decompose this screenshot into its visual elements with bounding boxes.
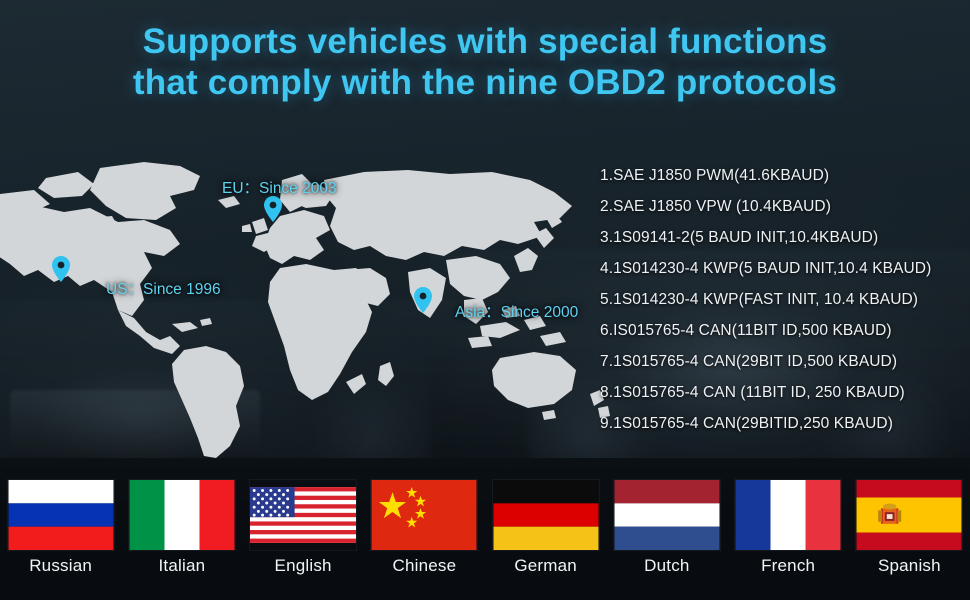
flag-italy-icon	[129, 480, 235, 550]
language-label-english: English	[243, 556, 364, 576]
title-line-1: Supports vehicles with special functions	[0, 22, 970, 63]
language-label-dutch: Dutch	[606, 556, 727, 576]
protocol-item-9: 9.1S015765-4 CAN(29BITID,250 KBAUD)	[600, 408, 960, 439]
flag-spain-icon	[856, 480, 962, 550]
map-label-us: US：Since 1996	[106, 277, 221, 299]
map-pin-eu[interactable]	[264, 196, 282, 222]
language-label-italian: Italian	[121, 556, 242, 576]
language-item-dutch[interactable]: Dutch	[606, 458, 727, 600]
title-line-2: that comply with the nine OBD2 protocols	[0, 63, 970, 104]
language-item-french[interactable]: French	[728, 458, 849, 600]
map-label-eu: EU：Since 2003	[222, 176, 337, 198]
flag-netherlands-icon	[614, 480, 720, 550]
poster-canvas: Supports vehicles with special functions…	[0, 0, 970, 600]
language-strip: Russian Italian	[0, 458, 970, 600]
protocol-item-3: 3.1S09141-2(5 BAUD INIT,10.4KBAUD)	[600, 222, 960, 253]
page-title: Supports vehicles with special functions…	[0, 22, 970, 103]
language-label-chinese: Chinese	[364, 556, 485, 576]
language-label-french: French	[728, 556, 849, 576]
language-item-english[interactable]: English	[243, 458, 364, 600]
map-pin-us[interactable]	[52, 256, 70, 282]
language-label-german: German	[485, 556, 606, 576]
world-map: EU：Since 2003 US：Since 1996 Asia：Since 2…	[0, 160, 614, 460]
language-item-german[interactable]: German	[485, 458, 606, 600]
language-label-spanish: Spanish	[849, 556, 970, 576]
map-pin-asia[interactable]	[414, 287, 432, 313]
flag-france-icon	[735, 480, 841, 550]
flag-usa-icon	[250, 480, 356, 550]
protocol-item-1: 1.SAE J1850 PWM(41.6KBAUD)	[600, 160, 960, 191]
protocol-item-7: 7.1S015765-4 CAN(29BIT ID,500 KBAUD)	[600, 346, 960, 377]
protocol-item-2: 2.SAE J1850 VPW (10.4KBAUD)	[600, 191, 960, 222]
flag-germany-icon	[493, 480, 599, 550]
protocol-item-5: 5.1S014230-4 KWP(FAST INIT, 10.4 KBAUD)	[600, 284, 960, 315]
protocol-item-8: 8.1S015765-4 CAN (11BIT ID, 250 KBAUD)	[600, 377, 960, 408]
protocol-item-6: 6.IS015765-4 CAN(11BIT ID,500 KBAUD)	[600, 315, 960, 346]
protocol-item-4: 4.1S014230-4 KWP(5 BAUD INIT,10.4 KBAUD)	[600, 253, 960, 284]
language-item-chinese[interactable]: Chinese	[364, 458, 485, 600]
language-item-spanish[interactable]: Spanish	[849, 458, 970, 600]
map-label-asia: Asia：Since 2000	[455, 300, 578, 322]
protocol-list: 1.SAE J1850 PWM(41.6KBAUD) 2.SAE J1850 V…	[600, 160, 960, 439]
language-label-russian: Russian	[0, 556, 121, 576]
language-item-russian[interactable]: Russian	[0, 458, 121, 600]
flag-russia-icon	[8, 480, 114, 550]
flag-china-icon	[371, 480, 477, 550]
language-item-italian[interactable]: Italian	[121, 458, 242, 600]
